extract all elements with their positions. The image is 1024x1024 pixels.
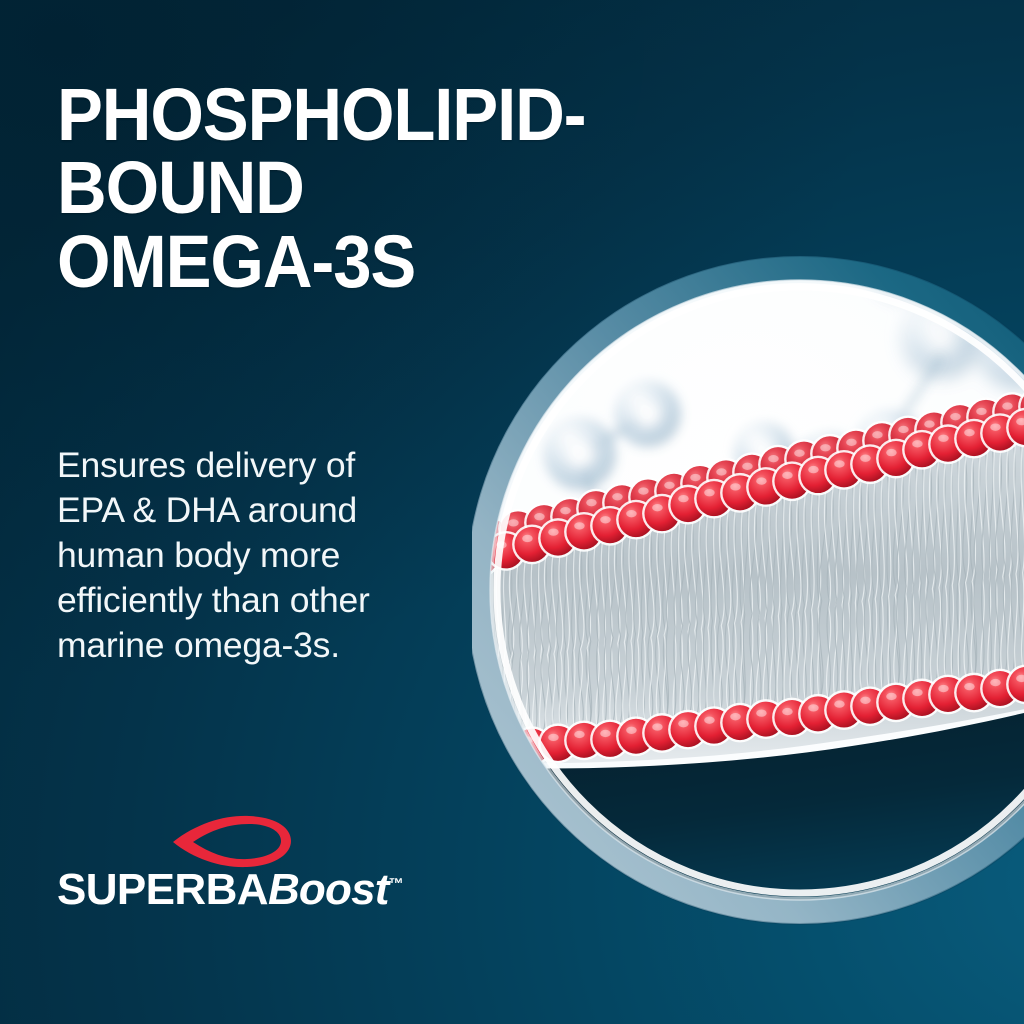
brand-logo[interactable]: SUPERBABoost™	[57, 810, 417, 920]
membrane-illustration-svg	[472, 206, 1024, 946]
infographic-canvas: PHOSPHOLIPID- BOUND OMEGA-3S Ensures del…	[0, 0, 1024, 1024]
wordmark-boost: Boost	[268, 865, 389, 914]
membrane-illustration	[472, 206, 1024, 946]
body-copy: Ensures delivery of EPA & DHA around hum…	[57, 443, 477, 668]
krill-teardrop-icon	[167, 812, 295, 870]
wordmark-superba: SUPERBA	[57, 865, 268, 914]
brand-wordmark: SUPERBABoost™	[57, 868, 404, 912]
page-title: PHOSPHOLIPID- BOUND OMEGA-3S	[57, 78, 457, 298]
trademark-symbol: ™	[389, 875, 404, 892]
copy-block: PHOSPHOLIPID- BOUND OMEGA-3S	[57, 78, 487, 298]
phospholipid-head	[472, 731, 500, 771]
phospholipid-head	[472, 731, 474, 771]
